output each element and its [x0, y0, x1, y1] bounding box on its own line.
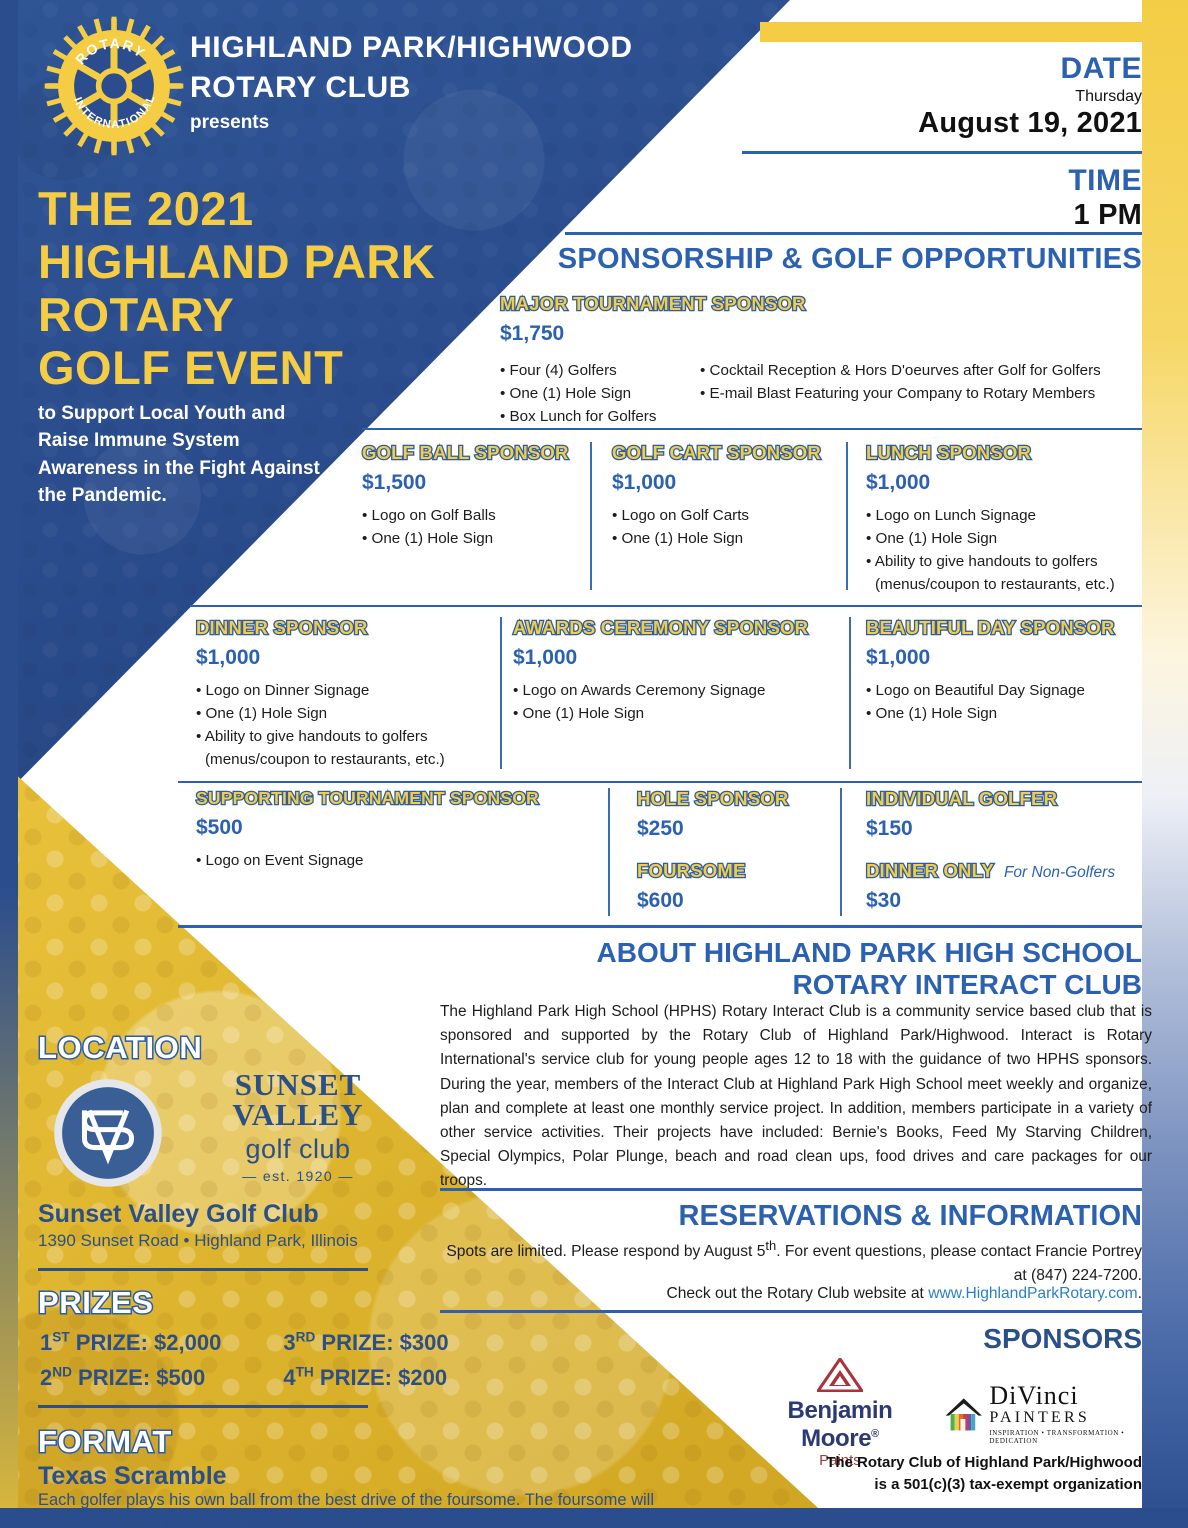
- foursome-price: $600: [637, 889, 837, 913]
- rotary-international-logo: ROTARY INTERNATIONAL: [44, 16, 184, 156]
- event-title-line4: GOLF EVENT: [38, 341, 558, 394]
- list-item: Ability to give handouts to golfers: [866, 550, 1166, 573]
- sv-established: — est. 1920 —: [178, 1168, 418, 1184]
- prize-item: 4TH PRIZE: $200: [283, 1362, 506, 1395]
- divider: [565, 232, 1142, 235]
- list-item: Logo on Lunch Signage: [866, 504, 1166, 527]
- presents-label: presents: [190, 112, 269, 134]
- list-item: Ability to give handouts to golfers: [196, 725, 486, 748]
- tax-line1: The Rotary Club of Highland Park/Highwoo…: [672, 1452, 1142, 1474]
- divider: [846, 442, 848, 590]
- top-yellow-band: [760, 22, 1170, 42]
- venue-address: 1390 Sunset Road • Highland Park, Illino…: [38, 1231, 358, 1251]
- divider: [849, 617, 851, 769]
- sponsorship-section-title: SPONSORSHIP & GOLF OPPORTUNITIES: [558, 243, 1142, 276]
- list-item: One (1) Hole Sign: [362, 527, 584, 550]
- supporting-sponsor-block: SUPPORTING TOURNAMENT SPONSOR $500 Logo …: [196, 788, 596, 872]
- format-name: Texas Scramble: [38, 1462, 227, 1491]
- date-value: August 19, 2021: [742, 107, 1142, 140]
- list-item: One (1) Hole Sign: [513, 702, 843, 725]
- supporting-sponsor-price: $500: [196, 816, 596, 840]
- golf-ball-sponsor-block: GOLF BALL SPONSOR $1,500 Logo on Golf Ba…: [362, 442, 584, 550]
- left-gradient-edge: [0, 0, 18, 1528]
- benefit-list: Logo on Dinner Signage One (1) Hole Sign…: [196, 679, 486, 771]
- divider: [178, 925, 1142, 928]
- prize-item: 1ST PRIZE: $2,000: [40, 1327, 281, 1360]
- location-label: LOCATION: [38, 1030, 202, 1066]
- reservations-body-part1: Spots are limited. Please respond by Aug…: [446, 1243, 765, 1260]
- dinner-only-title: DINNER ONLY: [866, 860, 994, 882]
- dinner-sponsor-title: DINNER SPONSOR: [196, 617, 486, 639]
- major-sponsor-block: MAJOR TOURNAMENT SPONSOR $1,750 Four (4)…: [500, 293, 1160, 428]
- divinci-logo: DiVinci PAINTERS INSPIRATION • TRANSFORM…: [944, 1383, 1142, 1445]
- golf-cart-sponsor-title: GOLF CART SPONSOR: [612, 442, 838, 464]
- reservations-body-sup: th: [765, 1238, 776, 1253]
- prize-item: 2ND PRIZE: $500: [40, 1362, 281, 1395]
- dinner-sponsor-block: DINNER SPONSOR $1,000 Logo on Dinner Sig…: [196, 617, 486, 771]
- major-sponsor-title: MAJOR TOURNAMENT SPONSOR: [500, 293, 1160, 315]
- website-suffix: .: [1138, 1285, 1142, 1302]
- flyer-page: ROTARY INTERNATIONAL HIGHLAND PARK/HIGHW…: [0, 0, 1188, 1528]
- individual-golfer-title: INDIVIDUAL GOLFER: [866, 788, 1166, 810]
- divinci-tagline: INSPIRATION • TRANSFORMATION • DEDICATIO…: [989, 1429, 1142, 1445]
- list-item-continuation: (menus/coupon to restaurants, etc.): [866, 573, 1166, 596]
- benefit-list: Logo on Beautiful Day Signage One (1) Ho…: [866, 679, 1166, 725]
- dinner-sponsor-price: $1,000: [196, 646, 486, 670]
- website-prefix: Check out the Rotary Club website at: [666, 1285, 928, 1302]
- lunch-sponsor-block: LUNCH SPONSOR $1,000 Logo on Lunch Signa…: [866, 442, 1166, 596]
- format-description: Each golfer plays his own ball from the …: [38, 1489, 678, 1528]
- major-sponsor-benefits-col2: Cocktail Reception & Hors D'oeurves afte…: [700, 359, 1160, 428]
- golf-ball-sponsor-price: $1,500: [362, 471, 584, 495]
- golf-cart-sponsor-block: GOLF CART SPONSOR $1,000 Logo on Golf Ca…: [612, 442, 838, 550]
- individual-golfer-price: $150: [866, 817, 1166, 841]
- divider: [440, 1310, 1142, 1313]
- time-value: 1 PM: [742, 199, 1142, 232]
- club-name-line1: HIGHLAND PARK/HIGHWOOD: [190, 28, 730, 68]
- event-title-line2: HIGHLAND PARK: [38, 235, 558, 288]
- divider: [38, 1268, 368, 1271]
- divider: [840, 788, 842, 916]
- benefit-list: Logo on Golf Balls One (1) Hole Sign: [362, 504, 584, 550]
- tax-exempt-notice: The Rotary Club of Highland Park/Highwoo…: [672, 1452, 1142, 1496]
- event-title-line1: THE 2021: [38, 182, 558, 235]
- list-item: Box Lunch for Golfers: [500, 405, 700, 428]
- club-name-line2: ROTARY CLUB: [190, 68, 730, 108]
- event-subtitle: to Support Local Youth and Raise Immune …: [38, 400, 338, 509]
- divinci-house-icon: [944, 1392, 983, 1436]
- divider: [190, 605, 1142, 607]
- sv-line3: golf club: [178, 1134, 418, 1165]
- beautiful-day-sponsor-block: BEAUTIFUL DAY SPONSOR $1,000 Logo on Bea…: [866, 617, 1166, 725]
- tax-line2: is a 501(c)(3) tax-exempt organization: [672, 1474, 1142, 1496]
- list-item: Four (4) Golfers: [500, 359, 700, 382]
- divider: [178, 781, 1142, 783]
- list-item: One (1) Hole Sign: [866, 702, 1166, 725]
- major-sponsor-benefits-col1: Four (4) Golfers One (1) Hole Sign Box L…: [500, 359, 700, 428]
- awards-ceremony-sponsor-title: AWARDS CEREMONY SPONSOR: [513, 617, 843, 639]
- benefit-list: Logo on Golf Carts One (1) Hole Sign: [612, 504, 838, 550]
- awards-ceremony-sponsor-price: $1,000: [513, 646, 843, 670]
- list-item: Cocktail Reception & Hors D'oeurves afte…: [700, 359, 1160, 382]
- benjamin-moore-triangle-icon: [817, 1358, 863, 1392]
- about-title-line2: ROTARY INTERACT CLUB: [412, 969, 1142, 1001]
- supporting-sponsor-title: SUPPORTING TOURNAMENT SPONSOR: [196, 788, 596, 809]
- benefit-list: Logo on Event Signage: [196, 849, 596, 872]
- divider: [500, 617, 502, 769]
- sunset-valley-logo: [52, 1077, 164, 1189]
- date-time-panel: DATE Thursday August 19, 2021 TIME 1 PM: [742, 52, 1142, 232]
- about-title-line1: ABOUT HIGHLAND PARK HIGH SCHOOL: [412, 937, 1142, 969]
- major-sponsor-price: $1,750: [500, 322, 1160, 346]
- sponsors-label: SPONSORS: [983, 1323, 1142, 1355]
- list-item-continuation: (menus/coupon to restaurants, etc.): [196, 748, 486, 771]
- benefit-list: Logo on Awards Ceremony Signage One (1) …: [513, 679, 843, 725]
- list-item: Logo on Golf Balls: [362, 504, 584, 527]
- beautiful-day-sponsor-price: $1,000: [866, 646, 1166, 670]
- date-label: DATE: [742, 52, 1142, 86]
- divider: [742, 151, 1142, 154]
- list-item: One (1) Hole Sign: [612, 527, 838, 550]
- reservations-body-part2: . For event questions, please contact Fr…: [776, 1243, 1142, 1284]
- divinci-name: DiVinci: [989, 1383, 1142, 1409]
- sv-line2: VALLEY: [178, 1100, 418, 1130]
- foursome-title: FOURSOME: [637, 860, 837, 882]
- prize-item: 3RD PRIZE: $300: [283, 1327, 506, 1360]
- list-item: One (1) Hole Sign: [866, 527, 1166, 550]
- hole-sponsor-price: $250: [637, 817, 837, 841]
- sv-line1: SUNSET: [178, 1070, 418, 1100]
- lunch-sponsor-title: LUNCH SPONSOR: [866, 442, 1166, 464]
- individual-golfer-block: INDIVIDUAL GOLFER $150 DINNER ONLY For N…: [866, 788, 1166, 913]
- hole-sponsor-block: HOLE SPONSOR $250 FOURSOME $600: [637, 788, 837, 913]
- golf-ball-sponsor-title: GOLF BALL SPONSOR: [362, 442, 584, 464]
- prizes-table: 1ST PRIZE: $2,000 3RD PRIZE: $300 2ND PR…: [38, 1325, 508, 1396]
- beautiful-day-sponsor-title: BEAUTIFUL DAY SPONSOR: [866, 617, 1166, 639]
- about-section-title: ABOUT HIGHLAND PARK HIGH SCHOOL ROTARY I…: [412, 937, 1142, 1002]
- rotary-website-link[interactable]: www.HighlandParkRotary.com: [928, 1285, 1137, 1302]
- list-item: Logo on Golf Carts: [612, 504, 838, 527]
- hole-sponsor-title: HOLE SPONSOR: [637, 788, 837, 810]
- divider: [590, 442, 592, 590]
- list-item: Logo on Awards Ceremony Signage: [513, 679, 843, 702]
- divider: [38, 1405, 368, 1408]
- list-item: Logo on Beautiful Day Signage: [866, 679, 1166, 702]
- list-item: One (1) Hole Sign: [500, 382, 700, 405]
- benefit-list: Logo on Lunch Signage One (1) Hole Sign …: [866, 504, 1166, 596]
- list-item: One (1) Hole Sign: [196, 702, 486, 725]
- list-item: Logo on Dinner Signage: [196, 679, 486, 702]
- club-name: HIGHLAND PARK/HIGHWOOD ROTARY CLUB: [190, 28, 730, 108]
- event-title-line3: ROTARY: [38, 288, 558, 341]
- bm-name: Benjamin Moore: [788, 1397, 893, 1452]
- event-title: THE 2021 HIGHLAND PARK ROTARY GOLF EVENT: [38, 182, 558, 394]
- divider: [362, 428, 1142, 430]
- divider: [608, 788, 610, 916]
- right-gradient-edge: [1142, 0, 1188, 1528]
- reservations-body: Spots are limited. Please respond by Aug…: [432, 1236, 1142, 1289]
- lunch-sponsor-price: $1,000: [866, 471, 1166, 495]
- venue-name: Sunset Valley Golf Club: [38, 1200, 319, 1229]
- list-item: Logo on Event Signage: [196, 849, 596, 872]
- about-body-text: The Highland Park High School (HPHS) Rot…: [440, 1000, 1152, 1194]
- dinner-only-price: $30: [866, 889, 1166, 913]
- website-line: Check out the Rotary Club website at www…: [432, 1285, 1142, 1303]
- prizes-label: PRIZES: [38, 1285, 154, 1321]
- dinner-only-note: For Non-Golfers: [1004, 864, 1115, 882]
- golf-cart-sponsor-price: $1,000: [612, 471, 838, 495]
- divider: [440, 1188, 1142, 1191]
- format-label: FORMAT: [38, 1424, 172, 1460]
- date-weekday: Thursday: [742, 88, 1142, 106]
- awards-ceremony-sponsor-block: AWARDS CEREMONY SPONSOR $1,000 Logo on A…: [513, 617, 843, 725]
- time-label: TIME: [742, 164, 1142, 198]
- list-item: E-mail Blast Featuring your Company to R…: [700, 382, 1160, 405]
- divinci-sub: PAINTERS: [989, 1409, 1142, 1427]
- bm-reg: ®: [871, 1428, 879, 1440]
- sunset-valley-wordmark: SUNSET VALLEY golf club — est. 1920 —: [178, 1070, 418, 1184]
- reservations-section-title: RESERVATIONS & INFORMATION: [679, 1200, 1142, 1233]
